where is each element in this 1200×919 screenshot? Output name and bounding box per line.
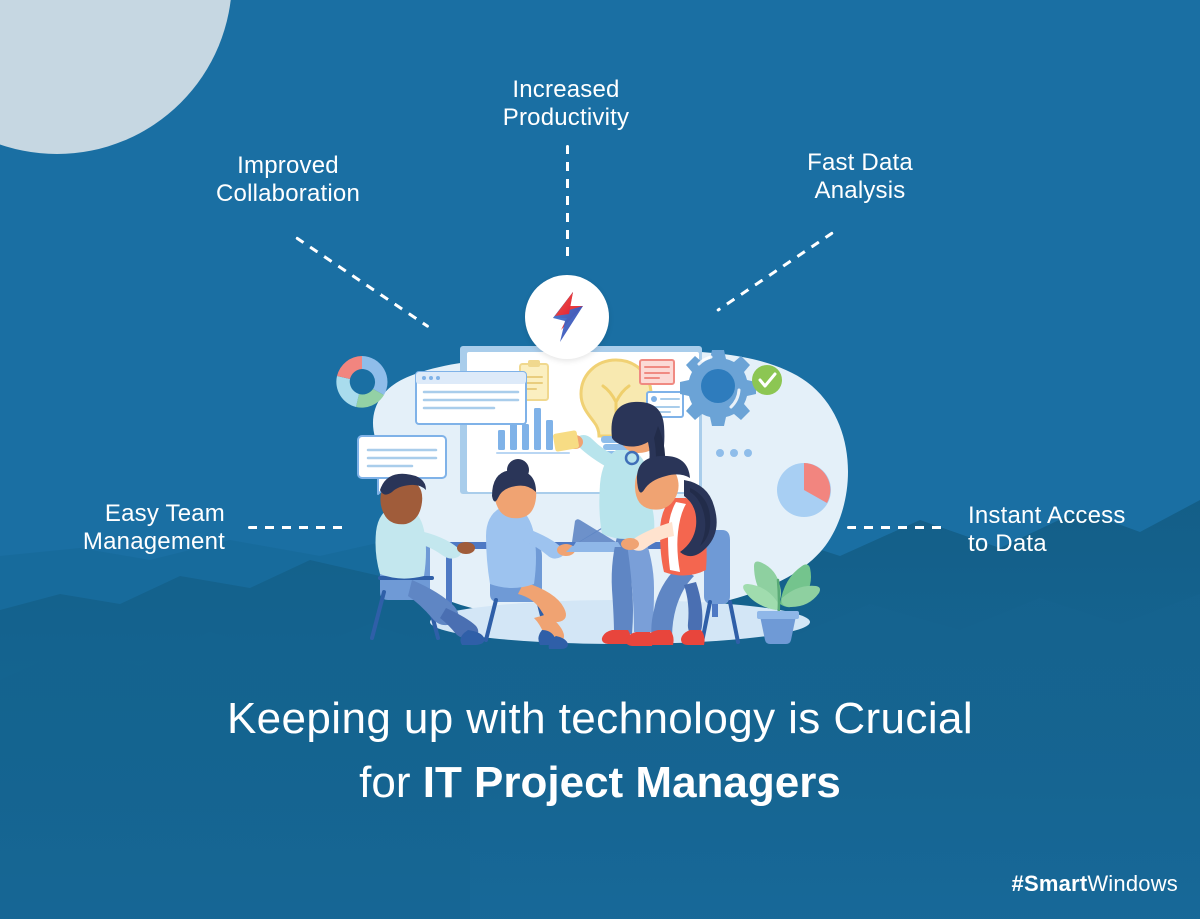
headline-line-2-bold: IT Project Managers [423, 758, 841, 807]
connector-increased-productivity [566, 145, 569, 260]
headline-line-2: for IT Project Managers [0, 759, 1200, 807]
corner-circle-decoration [0, 0, 232, 154]
headline: Keeping up with technology is Crucial fo… [0, 695, 1200, 808]
label-instant-access-to-data: Instant Access to Data [968, 502, 1183, 558]
brand-badge [525, 275, 609, 359]
label-increased-productivity: Increased Productivity [451, 76, 681, 132]
label-fast-data-analysis: Fast Data Analysis [745, 149, 975, 205]
team-meeting-illustration [320, 330, 890, 660]
document-card-icon [640, 360, 674, 384]
three-dots-icon [716, 449, 752, 457]
gear-icon [680, 350, 756, 426]
watermark-bold: #Smart [1012, 871, 1088, 896]
label-improved-collaboration: Improved Collaboration [173, 152, 403, 208]
headline-line-1: Keeping up with technology is Crucial [0, 695, 1200, 743]
watermark: #SmartWindows [1012, 871, 1178, 897]
check-circle-icon [752, 365, 782, 395]
browser-window-icon [416, 372, 526, 424]
pie-chart-icon [777, 463, 831, 517]
connector-fast-data-analysis [716, 231, 834, 312]
infographic-poster: Improved Collaboration Increased Product… [0, 0, 1200, 919]
connector-improved-collaboration [295, 236, 429, 328]
donut-chart-icon [336, 356, 387, 408]
headline-line-2-plain: for [359, 758, 423, 807]
watermark-regular: Windows [1087, 871, 1178, 896]
lightning-bolt-icon [543, 290, 591, 344]
label-easy-team-management: Easy Team Management [20, 500, 225, 556]
